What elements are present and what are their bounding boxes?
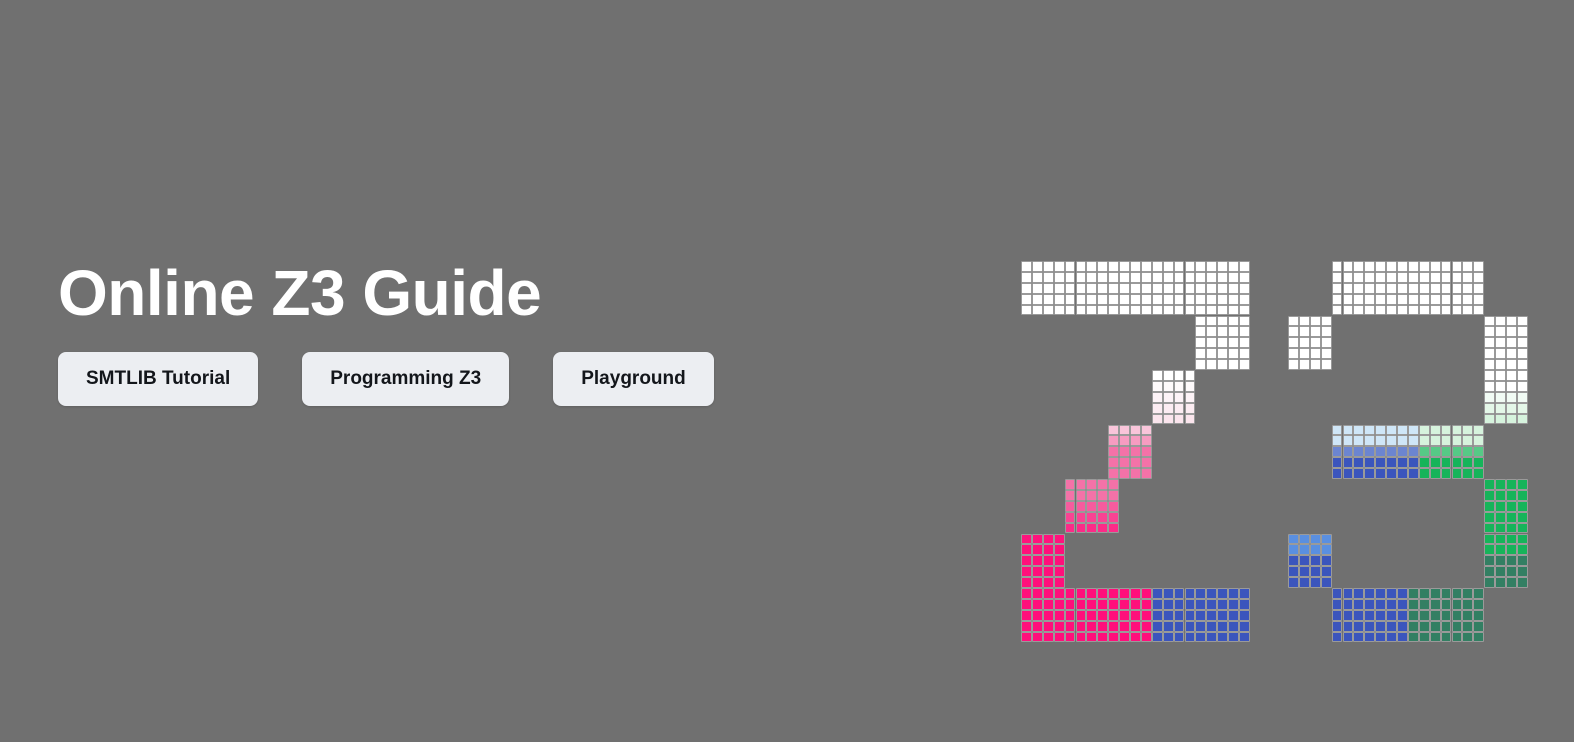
logo-pixel [1239,272,1250,283]
logo-pixel [1484,534,1495,545]
logo-pixel [1152,305,1163,316]
logo-pixel [1163,305,1174,316]
logo-pixel [1163,610,1174,621]
logo-pixel [1174,610,1185,621]
logo-pixel [1495,479,1506,490]
logo-pixel [1076,512,1087,523]
logo-pixel [1299,337,1310,348]
logo-pixel [1032,632,1043,643]
logo-pixel [1353,599,1364,610]
logo-pixel [1021,621,1032,632]
logo-pixel [1152,381,1163,392]
logo-pixel [1452,457,1463,468]
logo-pixel [1452,468,1463,479]
logo-pixel [1043,555,1054,566]
logo-pixel [1462,632,1473,643]
logo-pixel [1441,305,1452,316]
logo-pixel [1152,610,1163,621]
logo-pixel [1043,610,1054,621]
logo-pixel [1310,577,1321,588]
logo-pixel [1108,435,1119,446]
logo-pixel [1228,610,1239,621]
logo-pixel [1108,621,1119,632]
logo-pixel [1506,566,1517,577]
logo-pixel [1195,621,1206,632]
logo-pixel [1299,544,1310,555]
logo-pixel [1408,283,1419,294]
logo-pixel [1299,534,1310,545]
logo-pixel [1076,588,1087,599]
logo-pixel [1206,283,1217,294]
logo-pixel [1517,544,1528,555]
logo-pixel [1288,566,1299,577]
logo-pixel [1473,588,1484,599]
logo-pixel [1506,370,1517,381]
logo-pixel [1375,621,1386,632]
logo-pixel [1206,326,1217,337]
logo-pixel [1195,632,1206,643]
logo-pixel [1086,261,1097,272]
logo-pixel [1228,272,1239,283]
logo-pixel [1364,457,1375,468]
logo-pixel [1430,446,1441,457]
logo-pixel [1076,501,1087,512]
logo-pixel [1206,610,1217,621]
logo-pixel [1473,294,1484,305]
logo-pixel [1419,632,1430,643]
logo-pixel [1473,632,1484,643]
logo-pixel [1163,599,1174,610]
logo-pixel [1343,425,1354,436]
logo-pixel [1419,272,1430,283]
logo-pixel [1097,523,1108,534]
logo-pixel [1430,610,1441,621]
logo-pixel [1332,425,1343,436]
logo-pixel [1239,305,1250,316]
logo-pixel [1119,283,1130,294]
logo-pixel [1299,566,1310,577]
logo-pixel [1119,457,1130,468]
logo-pixel [1163,403,1174,414]
logo-pixel [1430,632,1441,643]
logo-pixel [1152,272,1163,283]
logo-pixel [1228,632,1239,643]
logo-pixel [1185,283,1196,294]
logo-pixel [1375,588,1386,599]
logo-pixel [1065,501,1076,512]
logo-pixel [1086,501,1097,512]
logo-pixel [1174,294,1185,305]
logo-pixel [1364,283,1375,294]
logo-pixel [1054,283,1065,294]
logo-pixel [1217,294,1228,305]
logo-pixel [1473,468,1484,479]
logo-pixel [1065,523,1076,534]
logo-pixel [1375,261,1386,272]
logo-pixel [1517,326,1528,337]
logo-pixel [1397,283,1408,294]
playground-button[interactable]: Playground [553,352,714,406]
logo-pixel [1239,359,1250,370]
logo-pixel [1097,599,1108,610]
logo-pixel [1065,283,1076,294]
hero-content: Online Z3 Guide SMTLIB Tutorial Programm… [58,258,958,406]
logo-pixel [1206,305,1217,316]
logo-pixel [1506,523,1517,534]
logo-pixel [1408,435,1419,446]
logo-pixel [1430,599,1441,610]
logo-pixel [1375,457,1386,468]
logo-pixel [1141,294,1152,305]
logo-pixel [1086,283,1097,294]
logo-pixel [1239,599,1250,610]
logo-pixel [1217,359,1228,370]
logo-pixel [1141,425,1152,436]
logo-pixel [1517,577,1528,588]
logo-pixel [1473,261,1484,272]
logo-pixel [1332,283,1343,294]
logo-pixel [1130,261,1141,272]
logo-pixel [1452,588,1463,599]
logo-pixel [1130,621,1141,632]
logo-pixel [1195,326,1206,337]
logo-pixel [1343,446,1354,457]
logo-pixel [1332,588,1343,599]
logo-pixel [1364,599,1375,610]
logo-pixel [1517,534,1528,545]
logo-pixel [1152,621,1163,632]
logo-pixel [1130,599,1141,610]
logo-pixel [1054,261,1065,272]
logo-pixel [1452,621,1463,632]
logo-pixel [1332,435,1343,446]
logo-pixel [1097,305,1108,316]
logo-pixel [1032,621,1043,632]
logo-pixel [1108,446,1119,457]
logo-pixel [1043,544,1054,555]
logo-pixel [1185,599,1196,610]
logo-pixel [1108,457,1119,468]
logo-pixel [1217,348,1228,359]
logo-pixel [1032,610,1043,621]
logo-pixel [1386,610,1397,621]
z3-pixel-logo [1021,261,1521,591]
logo-pixel [1462,610,1473,621]
logo-pixel [1217,588,1228,599]
logo-pixel [1419,446,1430,457]
logo-pixel [1484,501,1495,512]
logo-pixel [1119,294,1130,305]
logo-pixel [1185,588,1196,599]
logo-pixel [1108,305,1119,316]
logo-pixel [1228,588,1239,599]
logo-pixel [1054,577,1065,588]
logo-pixel [1408,305,1419,316]
logo-pixel [1321,348,1332,359]
logo-pixel [1473,621,1484,632]
logo-pixel [1484,337,1495,348]
logo-pixel [1517,348,1528,359]
logo-pixel [1517,555,1528,566]
logo-pixel [1343,457,1354,468]
logo-pixel [1441,457,1452,468]
logo-pixel [1484,403,1495,414]
logo-pixel [1119,588,1130,599]
logo-pixel [1462,283,1473,294]
logo-pixel [1239,326,1250,337]
logo-pixel [1021,555,1032,566]
logo-pixel [1043,599,1054,610]
logo-pixel [1097,479,1108,490]
logo-pixel [1397,632,1408,643]
logo-pixel [1043,294,1054,305]
logo-pixel [1228,294,1239,305]
logo-pixel [1441,294,1452,305]
logo-pixel [1163,283,1174,294]
logo-pixel [1452,599,1463,610]
logo-pixel [1452,261,1463,272]
logo-pixel [1163,261,1174,272]
logo-pixel [1332,468,1343,479]
logo-pixel [1310,326,1321,337]
logo-pixel [1419,588,1430,599]
logo-pixel [1086,632,1097,643]
logo-pixel [1043,632,1054,643]
logo-pixel [1206,632,1217,643]
logo-pixel [1288,348,1299,359]
logo-pixel [1021,610,1032,621]
smtlib-tutorial-button[interactable]: SMTLIB Tutorial [58,352,258,406]
logo-pixel [1495,337,1506,348]
logo-pixel [1043,534,1054,545]
logo-pixel [1206,316,1217,327]
logo-pixel [1174,588,1185,599]
logo-pixel [1076,479,1087,490]
logo-pixel [1506,544,1517,555]
logo-pixel [1217,599,1228,610]
logo-pixel [1141,588,1152,599]
logo-pixel [1310,359,1321,370]
logo-pixel [1462,294,1473,305]
logo-pixel [1065,294,1076,305]
logo-pixel [1108,261,1119,272]
logo-pixel [1484,381,1495,392]
logo-pixel [1484,544,1495,555]
logo-pixel [1108,272,1119,283]
logo-pixel [1452,425,1463,436]
logo-pixel [1152,283,1163,294]
logo-pixel [1375,283,1386,294]
logo-pixel [1130,632,1141,643]
logo-pixel [1408,468,1419,479]
logo-pixel [1206,294,1217,305]
logo-pixel [1119,272,1130,283]
logo-pixel [1430,468,1441,479]
logo-pixel [1086,588,1097,599]
logo-pixel [1321,555,1332,566]
logo-pixel [1517,523,1528,534]
logo-pixel [1086,305,1097,316]
logo-pixel [1032,294,1043,305]
logo-pixel [1419,261,1430,272]
logo-pixel [1386,588,1397,599]
logo-pixel [1185,403,1196,414]
logo-pixel [1174,261,1185,272]
logo-pixel [1086,479,1097,490]
logo-pixel [1484,326,1495,337]
logo-pixel [1195,588,1206,599]
logo-pixel [1185,632,1196,643]
logo-pixel [1321,534,1332,545]
logo-pixel [1517,414,1528,425]
logo-pixel [1484,555,1495,566]
logo-pixel [1506,577,1517,588]
logo-pixel [1397,272,1408,283]
logo-pixel [1174,272,1185,283]
logo-pixel [1054,599,1065,610]
logo-pixel [1054,544,1065,555]
logo-pixel [1408,599,1419,610]
logo-pixel [1419,621,1430,632]
logo-pixel [1364,610,1375,621]
logo-pixel [1484,392,1495,403]
logo-pixel [1032,305,1043,316]
logo-pixel [1043,577,1054,588]
logo-pixel [1408,588,1419,599]
logo-pixel [1441,283,1452,294]
logo-pixel [1032,566,1043,577]
logo-pixel [1288,544,1299,555]
logo-pixel [1375,632,1386,643]
logo-pixel [1119,446,1130,457]
logo-pixel [1343,305,1354,316]
logo-pixel [1054,294,1065,305]
logo-pixel [1506,381,1517,392]
logo-pixel [1206,261,1217,272]
logo-pixel [1217,305,1228,316]
logo-pixel [1185,305,1196,316]
logo-pixel [1364,588,1375,599]
logo-pixel [1364,435,1375,446]
logo-pixel [1130,425,1141,436]
logo-pixel [1032,272,1043,283]
logo-pixel [1473,425,1484,436]
logo-pixel [1343,272,1354,283]
logo-pixel [1228,348,1239,359]
logo-pixel [1441,261,1452,272]
logo-pixel [1108,490,1119,501]
logo-pixel [1206,272,1217,283]
logo-pixel [1065,272,1076,283]
logo-pixel [1353,425,1364,436]
logo-pixel [1408,261,1419,272]
logo-pixel [1353,457,1364,468]
logo-pixel [1206,599,1217,610]
logo-pixel [1195,305,1206,316]
logo-pixel [1288,534,1299,545]
logo-pixel [1174,381,1185,392]
logo-pixel [1375,446,1386,457]
logo-pixel [1332,272,1343,283]
logo-pixel [1119,599,1130,610]
logo-pixel [1462,457,1473,468]
logo-pixel [1462,272,1473,283]
logo-pixel [1097,588,1108,599]
logo-pixel [1441,599,1452,610]
logo-pixel [1185,610,1196,621]
logo-pixel [1141,621,1152,632]
logo-pixel [1430,435,1441,446]
logo-pixel [1174,599,1185,610]
logo-pixel [1174,370,1185,381]
logo-pixel [1517,512,1528,523]
logo-pixel [1086,610,1097,621]
logo-pixel [1076,621,1087,632]
logo-pixel [1217,272,1228,283]
logo-pixel [1097,261,1108,272]
logo-pixel [1462,261,1473,272]
logo-pixel [1086,490,1097,501]
logo-pixel [1310,316,1321,327]
logo-pixel [1441,446,1452,457]
logo-pixel [1043,621,1054,632]
logo-pixel [1506,392,1517,403]
logo-pixel [1441,588,1452,599]
logo-pixel [1473,610,1484,621]
logo-pixel [1299,348,1310,359]
logo-pixel [1217,261,1228,272]
logo-pixel [1495,414,1506,425]
logo-pixel [1119,261,1130,272]
logo-pixel [1484,577,1495,588]
logo-pixel [1228,337,1239,348]
logo-pixel [1163,414,1174,425]
logo-pixel [1108,523,1119,534]
logo-pixel [1174,632,1185,643]
logo-pixel [1141,632,1152,643]
logo-pixel [1353,446,1364,457]
logo-pixel [1185,414,1196,425]
logo-pixel [1484,414,1495,425]
logo-pixel [1495,534,1506,545]
programming-z3-button[interactable]: Programming Z3 [302,352,509,406]
logo-pixel [1065,632,1076,643]
logo-pixel [1032,544,1043,555]
logo-pixel [1506,316,1517,327]
logo-pixel [1517,337,1528,348]
logo-pixel [1430,261,1441,272]
logo-pixel [1108,479,1119,490]
logo-pixel [1408,272,1419,283]
logo-pixel [1097,512,1108,523]
logo-pixel [1462,621,1473,632]
logo-pixel [1473,305,1484,316]
logo-pixel [1239,316,1250,327]
logo-pixel [1299,555,1310,566]
logo-pixel [1239,348,1250,359]
logo-pixel [1239,621,1250,632]
logo-pixel [1217,632,1228,643]
logo-pixel [1419,283,1430,294]
logo-pixel [1386,435,1397,446]
logo-pixel [1076,272,1087,283]
logo-pixel [1108,599,1119,610]
logo-pixel [1484,512,1495,523]
logo-pixel [1054,621,1065,632]
logo-pixel [1408,632,1419,643]
logo-pixel [1228,305,1239,316]
logo-pixel [1174,414,1185,425]
